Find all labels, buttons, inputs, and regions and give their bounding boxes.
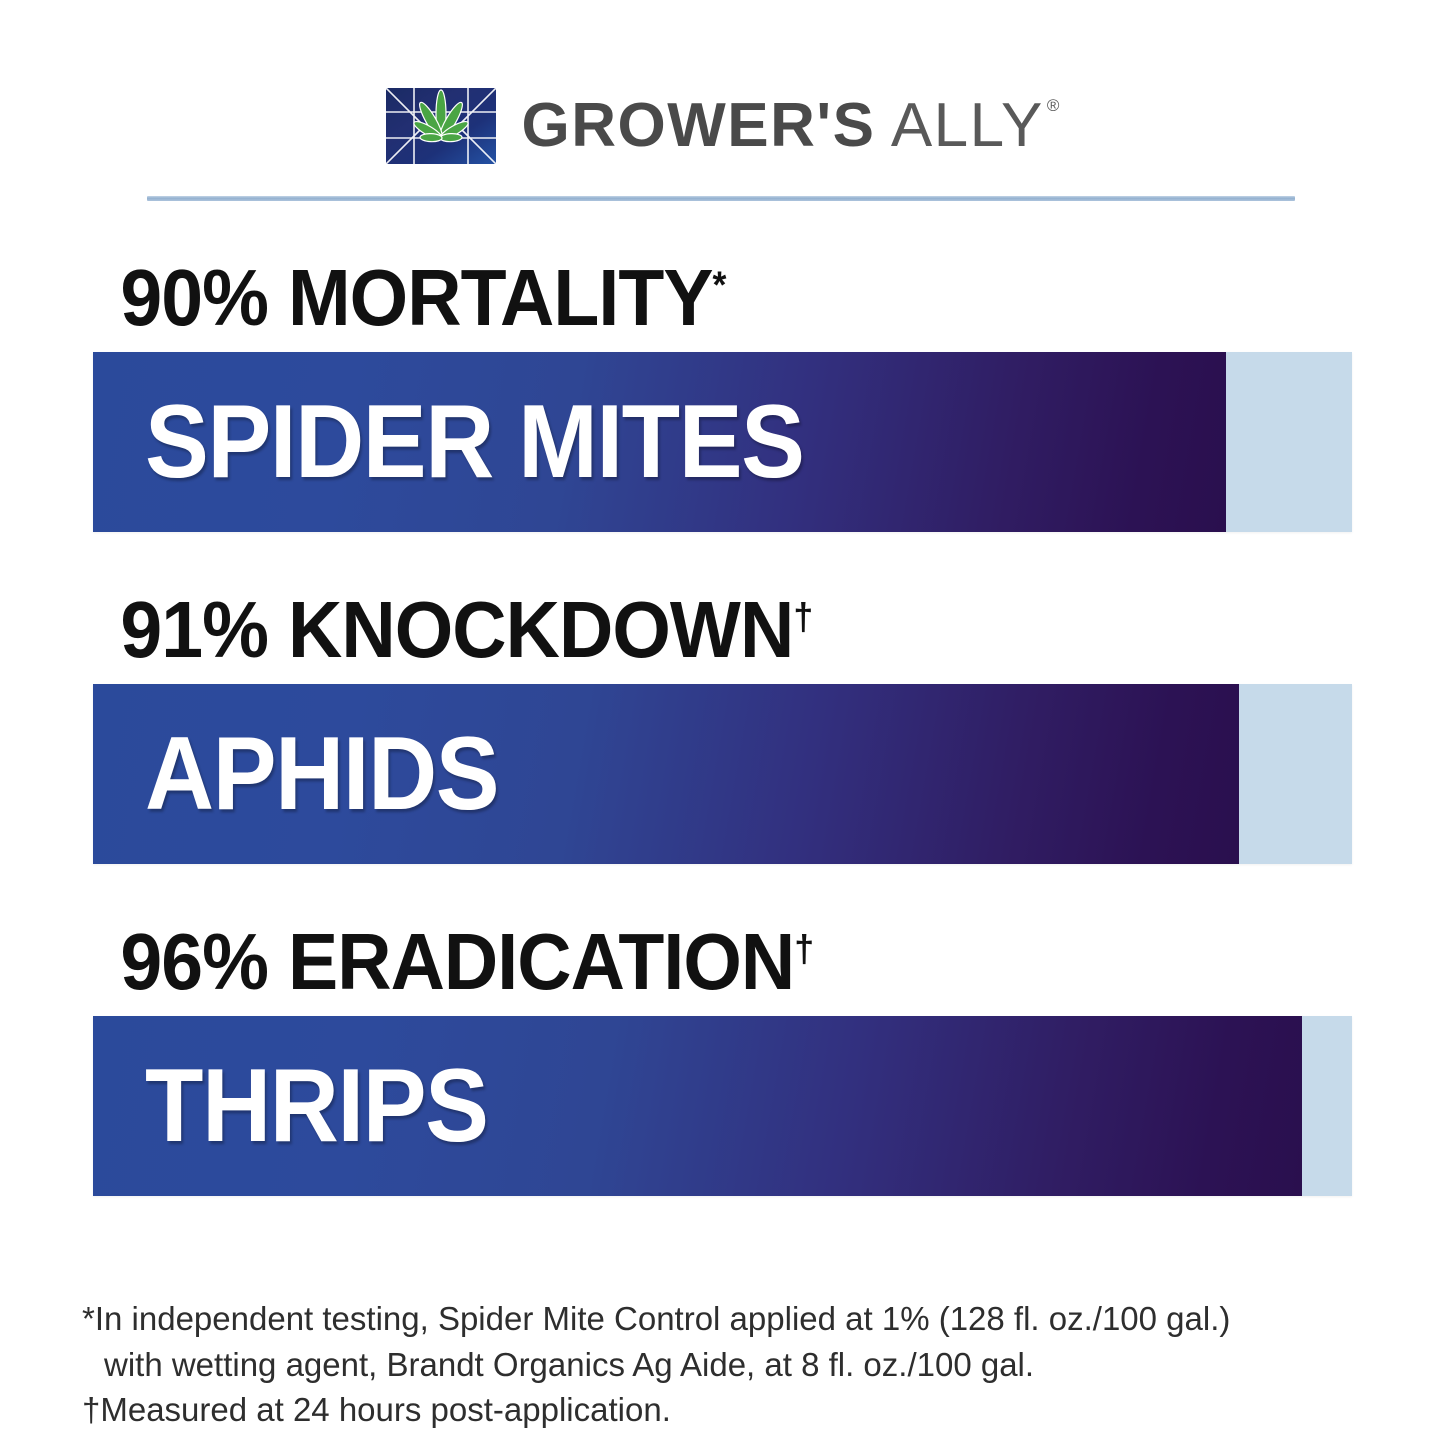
stats-list: 90% MORTALITY* SPIDER MITES 91% KNOCKDOW… bbox=[0, 258, 1445, 1196]
bar-track-spider-mites: SPIDER MITES bbox=[93, 352, 1352, 532]
footnote-line-1: *In independent testing, Spider Mite Con… bbox=[82, 1296, 1382, 1342]
stat-headline-eradication: 96% ERADICATION† bbox=[0, 922, 1358, 1002]
stat-headline-knockdown: 91% KNOCKDOWN† bbox=[0, 590, 1358, 670]
footnote-marker-2: † bbox=[793, 596, 812, 638]
leaf-mark-svg bbox=[386, 88, 496, 164]
stat-term-1: MORTALITY bbox=[288, 253, 713, 342]
footnote-marker-1: * bbox=[713, 264, 726, 306]
brand-wordmark: GROWER'S ALLY ® bbox=[522, 95, 1060, 157]
bar-label-thrips: THRIPS bbox=[145, 1054, 488, 1158]
stat-headline-mortality: 90% MORTALITY* bbox=[0, 258, 1358, 338]
brand-name-light bbox=[876, 91, 891, 160]
brand-name-light-word: ALLY bbox=[891, 91, 1044, 160]
footnotes-block: *In independent testing, Spider Mite Con… bbox=[82, 1296, 1382, 1433]
cannabis-leaf-mosaic-icon bbox=[386, 88, 496, 164]
brand-header: GROWER'S ALLY ® bbox=[0, 78, 1445, 174]
stat-value-2: 91% bbox=[120, 585, 268, 674]
footnote-line-2: with wetting agent, Brandt Organics Ag A… bbox=[82, 1342, 1382, 1388]
header-divider bbox=[147, 196, 1295, 201]
brand-name: GROWER'S ALLY bbox=[522, 95, 1044, 157]
logo-lockup: GROWER'S ALLY ® bbox=[386, 88, 1060, 164]
registered-trademark-icon: ® bbox=[1047, 97, 1060, 114]
stat-term-2: KNOCKDOWN bbox=[288, 585, 793, 674]
stat-group-aphids: 91% KNOCKDOWN† APHIDS bbox=[0, 590, 1445, 864]
brand-name-bold: GROWER'S bbox=[522, 91, 876, 160]
bar-label-aphids: APHIDS bbox=[145, 722, 498, 826]
bar-label-spider-mites: SPIDER MITES bbox=[145, 390, 804, 494]
stat-group-thrips: 96% ERADICATION† THRIPS bbox=[0, 922, 1445, 1196]
stat-term-3: ERADICATION bbox=[288, 917, 794, 1006]
infographic-page: GROWER'S ALLY ® 90% MORTALITY* SPIDER MI… bbox=[0, 0, 1445, 1445]
stat-value-1: 90% bbox=[120, 253, 268, 342]
stat-value-3: 96% bbox=[120, 917, 268, 1006]
footnote-marker-3: † bbox=[794, 928, 813, 970]
footnote-line-3: †Measured at 24 hours post-application. bbox=[82, 1387, 1382, 1433]
bar-track-thrips: THRIPS bbox=[93, 1016, 1352, 1196]
stat-group-spider-mites: 90% MORTALITY* SPIDER MITES bbox=[0, 258, 1445, 532]
bar-track-aphids: APHIDS bbox=[93, 684, 1352, 864]
